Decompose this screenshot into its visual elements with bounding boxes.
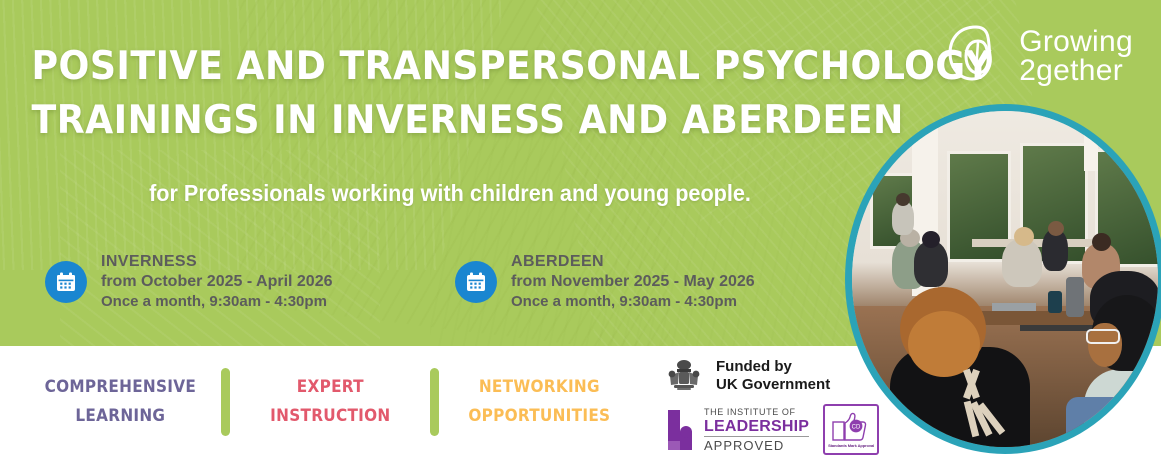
funder-line-2: UK Government xyxy=(716,376,830,394)
photo-bottle xyxy=(1066,277,1084,317)
institute-logo-text: THE INSTITUTE OF LEADERSHIP APPROVED xyxy=(704,407,809,453)
growing2gether-leaf-icon xyxy=(945,22,1007,89)
promo-banner: POSITIVE AND TRANSPERSONAL PSYCHOLOGY TR… xyxy=(0,0,1161,475)
photo-person xyxy=(1002,239,1042,287)
feature-divider xyxy=(221,368,230,436)
photo-person-head xyxy=(922,231,940,248)
institute-line-2: LEADERSHIP xyxy=(704,418,809,436)
feature-line-2: LEARNING xyxy=(30,402,211,431)
institute-line-3: APPROVED xyxy=(704,436,809,453)
feature-expert-instruction: EXPERT INSTRUCTION xyxy=(240,373,421,431)
photo-person-head xyxy=(896,193,910,206)
feature-line-1: NETWORKING xyxy=(449,373,630,402)
location-text: ABERDEEN from November 2025 - May 2026 O… xyxy=(511,252,755,312)
brand-logo: Growing 2gether xyxy=(945,22,1133,89)
photo-ring xyxy=(845,104,1161,454)
institute-line-1: THE INSTITUTE OF xyxy=(704,407,809,418)
feature-line-1: COMPREHENSIVE xyxy=(30,373,211,402)
location-block-aberdeen: ABERDEEN from November 2025 - May 2026 O… xyxy=(455,252,755,312)
photo-laptop xyxy=(992,303,1036,311)
photo-circle xyxy=(845,104,1161,464)
brand-logo-text: Growing 2gether xyxy=(1019,27,1133,85)
calendar-icon xyxy=(45,261,87,303)
location-name: ABERDEEN xyxy=(511,252,755,272)
photo-cup xyxy=(1048,291,1062,313)
location-dates: from November 2025 - May 2026 xyxy=(511,272,755,292)
funder-logo-text: Funded by UK Government xyxy=(716,358,830,394)
brand-logo-line-2: 2gether xyxy=(1019,56,1133,85)
photo-hoodie-graphic xyxy=(944,367,1016,453)
brand-logo-line-1: Growing xyxy=(1019,27,1133,56)
photo-column xyxy=(1084,111,1098,171)
feature-line-2: OPPORTUNITIES xyxy=(449,402,630,431)
subtitle: for Professionals working with children … xyxy=(27,180,873,207)
photo-glasses xyxy=(1086,329,1120,344)
headline: POSITIVE AND TRANSPERSONAL PSYCHOLOGY TR… xyxy=(0,40,900,148)
photo-person-head xyxy=(1092,233,1111,251)
feature-line-1: EXPERT xyxy=(240,373,421,402)
feature-networking-opportunities: NETWORKING OPPORTUNITIES xyxy=(449,373,630,431)
location-name: INVERNESS xyxy=(101,252,333,272)
location-times: Once a month, 9:30am - 4:30pm xyxy=(101,292,333,312)
funder-logo: Funded by UK Government xyxy=(662,358,830,394)
institute-of-leadership-logo: THE INSTITUTE OF LEADERSHIP APPROVED xyxy=(666,407,809,453)
location-dates: from October 2025 - April 2026 xyxy=(101,272,333,292)
location-block-inverness: INVERNESS from October 2025 - April 2026… xyxy=(45,252,333,312)
photo-jeans xyxy=(1066,397,1126,453)
uk-royal-crest-icon xyxy=(662,358,706,394)
headline-line-1: POSITIVE AND TRANSPERSONAL PSYCHOLOGY xyxy=(32,40,869,94)
location-text: INVERNESS from October 2025 - April 2026… xyxy=(101,252,333,312)
headline-line-2: TRAININGS IN INVERNESS AND ABERDEEN xyxy=(32,94,869,148)
institute-of-leadership-mark-icon xyxy=(666,410,696,450)
features-list: COMPREHENSIVE LEARNING EXPERT INSTRUCTIO… xyxy=(20,368,640,436)
location-times: Once a month, 9:30am - 4:30pm xyxy=(511,292,755,312)
feature-divider xyxy=(430,368,439,436)
funder-line-1: Funded by xyxy=(716,358,830,376)
photo-person xyxy=(892,201,914,235)
photo-person-head xyxy=(1048,221,1064,236)
photo-person-head xyxy=(1014,227,1034,246)
feature-line-2: INSTRUCTION xyxy=(240,402,421,431)
calendar-icon xyxy=(455,261,497,303)
feature-comprehensive-learning: COMPREHENSIVE LEARNING xyxy=(30,373,211,431)
